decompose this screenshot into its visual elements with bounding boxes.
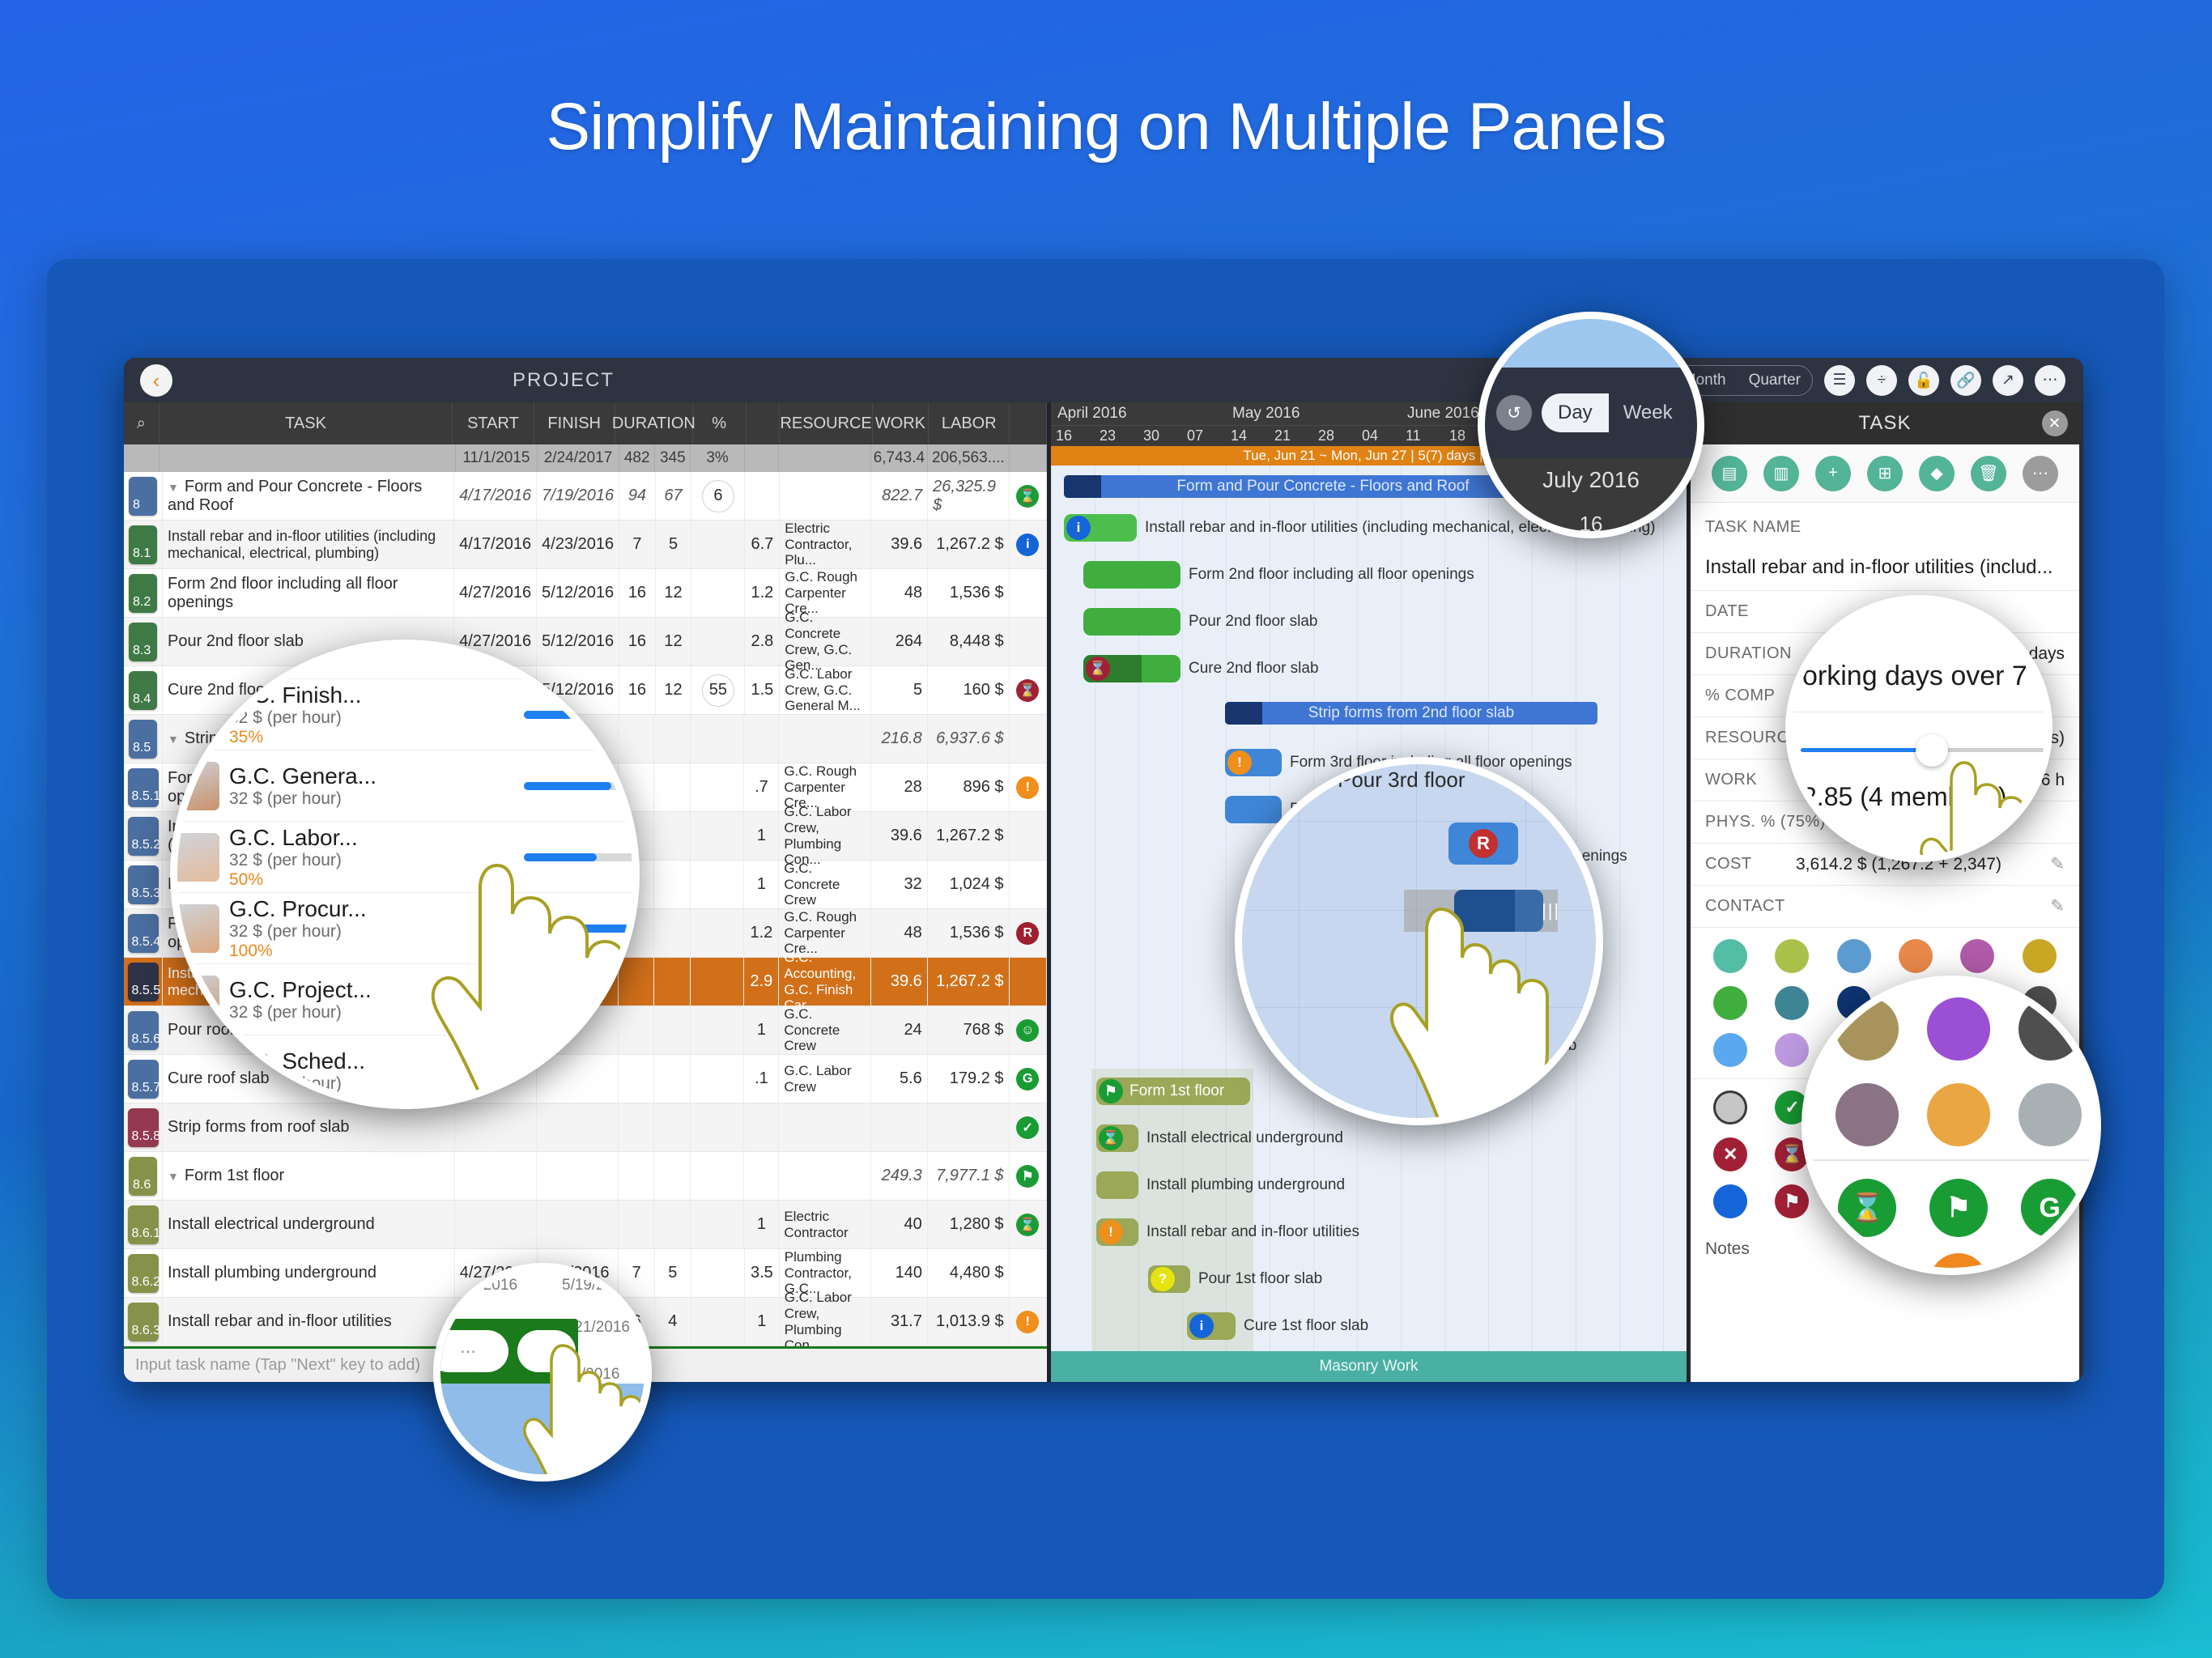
cell-duration-2[interactable]: [654, 1055, 691, 1103]
app-topbar: ‹ PROJECT ↺ Day Week Month Quarter ☰ ÷ 🔓…: [124, 358, 2083, 402]
resource-name: G.C. Finish...: [229, 682, 514, 708]
gantt-gridline: [1051, 466, 1052, 1380]
cell-duration-1[interactable]: [619, 1201, 655, 1248]
cell-flag[interactable]: [1010, 812, 1047, 860]
cell-percent[interactable]: [691, 763, 744, 811]
gantt-bar[interactable]: Install plumbing underground: [1096, 1171, 1138, 1199]
cell-percent[interactable]: [691, 1249, 745, 1297]
status-flag-icon[interactable]: ⌛: [1016, 485, 1039, 508]
cell-finish[interactable]: [537, 1152, 619, 1200]
more-icon[interactable]: ⋯: [2035, 365, 2065, 396]
magnifier-resource-list: G.C. Accou... 32 $ (per hour) 100% G.C. …: [170, 640, 640, 1109]
cell-resource[interactable]: [779, 1103, 870, 1151]
cell-finish[interactable]: [537, 1201, 619, 1248]
cell-resource-count: [744, 1152, 779, 1200]
page-title: PROJECT: [513, 369, 615, 392]
cell-resource[interactable]: [779, 715, 870, 763]
resource-list-item[interactable]: G.C. Project... 32 $ (per hour): [170, 964, 640, 1035]
cell-resource[interactable]: G.C. Labor Crew, G.C. General M...: [780, 666, 871, 714]
detail-row-contact[interactable]: CONTACT✎: [1691, 886, 2079, 928]
column-header-start[interactable]: START: [453, 402, 534, 444]
resource-popover[interactable]: G.C. Accou... 32 $ (per hour) 100% G.C. …: [170, 640, 640, 1107]
cell-duration-2[interactable]: [654, 1201, 691, 1248]
table-row[interactable]: 8.2Form 2nd floor including all floor op…: [124, 569, 1047, 618]
cell-resource[interactable]: G.C. Labor Crew: [779, 1055, 870, 1103]
cell-resource[interactable]: G.C. Labor Crew, Plumbing Con...: [780, 1298, 871, 1346]
resource-list-item[interactable]: G.C. Labor... 32 $ (per hour) 50%: [170, 822, 640, 893]
cell-work[interactable]: 32: [871, 861, 928, 908]
gantt-bar[interactable]: iInstall rebar and in-floor utilities (i…: [1064, 514, 1137, 542]
swatch-purple[interactable]: [1927, 997, 1990, 1061]
cell-flag[interactable]: [1010, 715, 1047, 763]
search-icon[interactable]: ⌕: [124, 402, 160, 444]
cell-duration-1[interactable]: 94: [619, 472, 656, 520]
cell-flag[interactable]: ⚑: [1010, 1152, 1047, 1200]
resource-list-item[interactable]: G.C. Procur... 32 $ (per hour) 100%: [170, 893, 640, 964]
cell-duration-2[interactable]: [654, 715, 691, 763]
status-flag-icon[interactable]: i: [1016, 534, 1039, 556]
cell-finish[interactable]: [537, 1103, 619, 1151]
cell-labor[interactable]: 7,977.1 $: [928, 1152, 1010, 1200]
row-id-badge: 8.5: [124, 715, 163, 763]
gantt-day-tick: 11: [1406, 427, 1421, 444]
cell-start[interactable]: [455, 1152, 537, 1200]
resource-slider[interactable]: [524, 925, 640, 933]
close-icon[interactable]: ✕: [2042, 410, 2068, 436]
cell-percent[interactable]: [691, 715, 744, 763]
cell-resource-count: [744, 715, 779, 763]
flag-red-icon[interactable]: ⚑: [1775, 1184, 1809, 1218]
status-flag-icon[interactable]: R: [1016, 922, 1039, 945]
cell-percent[interactable]: [691, 1103, 744, 1151]
cell-labor[interactable]: 1,013.9 $: [928, 1298, 1010, 1346]
row-id-badge: 8.1: [124, 521, 163, 568]
summary-labor: 206,563....: [928, 444, 1010, 472]
cell-percent[interactable]: 6: [691, 472, 745, 520]
cell-duration-1[interactable]: 7: [619, 521, 656, 568]
cell-work[interactable]: 39.6: [871, 958, 928, 1005]
cell-work[interactable]: 5: [871, 666, 928, 714]
cell-work[interactable]: 264: [871, 618, 928, 665]
row-id-badge: 8.5.1: [124, 763, 163, 811]
gantt-bar[interactable]: Form 2nd floor including all floor openi…: [1083, 561, 1180, 589]
cell-resource[interactable]: G.C. Concrete Crew: [779, 1006, 870, 1054]
status-flag-icon[interactable]: ⌛: [1016, 1214, 1039, 1236]
promo-title: Simplify Maintaining on Multiple Panels: [0, 89, 2212, 165]
column-header-flag: [1010, 402, 1047, 444]
swatch-orange[interactable]: [1927, 1083, 1990, 1146]
cell-resource-count: 3.5: [745, 1249, 780, 1297]
magnified-undo-icon[interactable]: ↺: [1496, 395, 1532, 431]
cell-resource[interactable]: G.C. Labor Crew, Plumbing Con...: [779, 812, 870, 860]
table-row[interactable]: 8▼Form and Pour Concrete - Floors and Ro…: [124, 472, 1047, 521]
cross-icon[interactable]: ✕: [1713, 1137, 1747, 1171]
cell-duration-1[interactable]: [619, 1103, 655, 1151]
gantt-bar[interactable]: !Install rebar and in-floor utilities: [1096, 1218, 1138, 1246]
resource-list-item[interactable]: G.C. Genera... 32 $ (per hour): [170, 750, 640, 822]
cell-duration-1[interactable]: 16: [619, 569, 656, 617]
resource-rate: 32 $ (per hour): [229, 851, 514, 870]
gantt-day-tick: 07: [1187, 427, 1203, 444]
summary-start: 11/1/2015: [456, 444, 538, 472]
avatar: [171, 691, 219, 739]
cell-labor[interactable]: 160 $: [928, 666, 1009, 714]
gantt-gridline: [1663, 466, 1664, 1380]
status-flag-icon[interactable]: G: [1016, 1068, 1039, 1090]
cell-task-name[interactable]: Install plumbing underground: [163, 1249, 455, 1297]
cell-flag[interactable]: [1010, 861, 1047, 908]
swatch-darkgrey[interactable]: [2018, 997, 2082, 1061]
cell-duration-2[interactable]: [654, 1103, 691, 1151]
row-id-badge: 8.6.3: [124, 1298, 163, 1346]
gantt-bar[interactable]: ?Pour 1st floor slab: [1148, 1265, 1190, 1293]
subtasks-icon[interactable]: ⊞: [1867, 456, 1903, 491]
color-swatch[interactable]: [1960, 939, 1994, 973]
cell-task-name[interactable]: Install electrical underground: [163, 1201, 455, 1248]
cell-work[interactable]: [871, 1103, 928, 1151]
cell-work[interactable]: 216.8: [871, 715, 928, 763]
cell-labor[interactable]: 6,937.6 $: [928, 715, 1010, 763]
cell-labor[interactable]: 1,267.2 $: [928, 812, 1010, 860]
resource-percent: 50%: [229, 870, 514, 890]
cell-work[interactable]: 28: [871, 763, 928, 811]
hourglass-icon[interactable]: ⌛: [1838, 1179, 1896, 1237]
cell-start[interactable]: 4/17/2016: [454, 472, 537, 520]
outline-icon[interactable]: ☰: [1824, 365, 1855, 396]
gantt-day-tick: 30: [1143, 427, 1159, 444]
cell-start[interactable]: 4/27/2016: [454, 569, 537, 617]
empty-circle-icon[interactable]: [1713, 1090, 1747, 1124]
cell-labor[interactable]: 8,448 $: [928, 618, 1009, 665]
row-id-badge: 8.5.3: [124, 861, 163, 908]
cell-labor[interactable]: 1,024 $: [928, 861, 1010, 908]
cell-flag[interactable]: ⌛: [1010, 666, 1047, 714]
cell-resource-count: 1.2: [745, 569, 780, 617]
indent-icon[interactable]: ▥: [1763, 456, 1799, 491]
cell-labor[interactable]: 768 $: [928, 1006, 1010, 1054]
cell-resource[interactable]: [779, 1152, 870, 1200]
cell-task-name[interactable]: Install rebar and in-floor utilities (in…: [163, 521, 454, 568]
row-id-badge: 8.2: [124, 569, 163, 617]
cell-labor[interactable]: 1,280 $: [928, 1201, 1010, 1248]
gantt-month-label: April 2016: [1057, 405, 1127, 423]
cell-resource-count: .7: [744, 763, 779, 811]
color-swatch[interactable]: [2023, 939, 2057, 973]
cell-flag[interactable]: i: [1010, 521, 1047, 568]
column-header-labor[interactable]: LABOR: [929, 402, 1010, 444]
row-id-badge: 8.5.4: [124, 909, 163, 957]
cell-duration-2[interactable]: [654, 812, 691, 860]
cell-labor[interactable]: 1,267.2 $: [928, 958, 1010, 1005]
cell-labor[interactable]: 179.2 $: [928, 1055, 1010, 1103]
flag-icon[interactable]: ⚑: [1929, 1179, 1988, 1237]
cell-finish[interactable]: 5/12/2016: [537, 569, 619, 617]
resource-slider[interactable]: [524, 853, 640, 861]
cell-percent[interactable]: [691, 569, 745, 617]
status-flag-icon[interactable]: !: [1016, 1311, 1039, 1333]
cell-percent[interactable]: [691, 1055, 744, 1103]
cell-work[interactable]: 48: [871, 909, 928, 957]
detail-label-task-name: TASK NAME: [1705, 518, 1802, 537]
cell-finish[interactable]: 4/23/2016: [537, 521, 619, 568]
cell-percent[interactable]: [691, 1201, 744, 1248]
cell-duration-2[interactable]: [654, 909, 691, 957]
cell-task-name[interactable]: ▼Form 1st floor: [163, 1152, 455, 1200]
color-swatch[interactable]: [1837, 939, 1871, 973]
cell-resource[interactable]: Electric Contractor, Plu...: [780, 521, 871, 568]
cell-task-name[interactable]: Strip forms from roof slab: [163, 1103, 455, 1151]
avatar: [171, 904, 219, 953]
resource-name: G.C. Genera...: [229, 763, 514, 789]
cell-flag[interactable]: [1010, 569, 1047, 617]
cell-finish[interactable]: 7/19/2016: [537, 472, 619, 520]
status-flag-icon[interactable]: ☺: [1016, 1019, 1039, 1042]
cell-resource[interactable]: G.C. Concrete Crew, G.C. Gen...: [780, 618, 871, 665]
magnifier-bulk-input: 5/11/2016 5/19/2016 /21/2016 /4/2016 ⋯: [433, 1263, 652, 1482]
resource-percent: 35%: [229, 728, 514, 747]
cell-duration-2[interactable]: [654, 958, 691, 1005]
column-header-task[interactable]: TASK: [160, 402, 453, 444]
cell-percent[interactable]: [691, 909, 744, 957]
resource-slider[interactable]: [524, 647, 640, 655]
cell-start[interactable]: 4/17/2016: [454, 521, 537, 568]
cell-percent[interactable]: [691, 958, 744, 1005]
row-id-badge: 8: [124, 472, 163, 520]
back-button[interactable]: ‹: [140, 364, 172, 397]
g-icon[interactable]: G: [2021, 1179, 2079, 1237]
table-row[interactable]: 8.1Install rebar and in-floor utilities …: [124, 521, 1047, 569]
avatar: [171, 1047, 219, 1095]
cell-resource[interactable]: Electric Contractor: [779, 1201, 870, 1248]
magnified-day-option[interactable]: Day: [1542, 393, 1609, 432]
cell-percent[interactable]: 55: [691, 666, 745, 714]
cell-flag[interactable]: R: [1010, 909, 1047, 957]
row-id-badge: 8.6.1: [124, 1201, 163, 1248]
cell-labor[interactable]: [928, 1103, 1010, 1151]
cell-flag[interactable]: !: [1010, 1298, 1047, 1346]
cell-duration-1[interactable]: [619, 1152, 655, 1200]
magnifier-color-picker: ⌛ ⚑ G ⌛ ⚑ A ⚑ R: [1802, 976, 2101, 1275]
note-icon[interactable]: ▤: [1712, 456, 1747, 491]
disclosure-caret-icon[interactable]: ▼: [168, 481, 179, 494]
cell-flag[interactable]: ⌛: [1010, 472, 1047, 520]
gantt-bar[interactable]: ⚑Form 1st floor: [1096, 1078, 1250, 1105]
magnified-date-3: /21/2016: [570, 1319, 630, 1337]
resource-rate: 32 $ (per hour): [229, 1074, 514, 1094]
detail-value-task-name[interactable]: Install rebar and in-floor utilities (in…: [1691, 545, 2079, 591]
cell-work[interactable]: 24: [871, 1006, 928, 1054]
cell-flag[interactable]: G: [1010, 1055, 1047, 1103]
resource-slider[interactable]: [524, 1067, 640, 1075]
lock-icon[interactable]: 🔓: [1908, 365, 1939, 396]
resource-slider[interactable]: [524, 782, 640, 790]
cell-labor[interactable]: 1,536 $: [928, 569, 1009, 617]
cell-work[interactable]: 31.7: [871, 1298, 928, 1346]
blue-icon[interactable]: [1713, 1184, 1747, 1218]
column-header-resource[interactable]: RESOURCE: [780, 402, 872, 444]
cell-work[interactable]: 39.6: [871, 812, 928, 860]
status-flag-icon[interactable]: ⚑: [1016, 1165, 1039, 1188]
cell-work[interactable]: 249.3: [871, 1152, 928, 1200]
cell-duration-2[interactable]: [654, 1006, 691, 1054]
edit-icon[interactable]: ✎: [2050, 854, 2065, 874]
avatar: [171, 762, 219, 810]
cell-work[interactable]: 48: [871, 569, 928, 617]
cell-duration-2[interactable]: 4: [655, 1298, 691, 1346]
cell-labor[interactable]: 4,480 $: [928, 1249, 1010, 1297]
cell-resource-count: 1.5: [745, 666, 780, 714]
status-flag-icon[interactable]: ✓: [1016, 1116, 1039, 1139]
add-task-icon[interactable]: +: [1815, 456, 1851, 491]
gantt-day-tick: 28: [1318, 427, 1334, 444]
cell-resource-count: 1: [744, 812, 779, 860]
cell-resource[interactable]: G.C. Concrete Crew: [779, 861, 870, 908]
cell-work[interactable]: 140: [871, 1249, 928, 1297]
table-row[interactable]: 8.6▼Form 1st floor249.37,977.1 $⚑: [124, 1152, 1047, 1201]
color-swatch[interactable]: [1775, 986, 1809, 1020]
magnified-resource-text: 2.85 (4 members): [1802, 782, 2007, 812]
swatch-grey[interactable]: [2018, 1083, 2082, 1146]
cell-work[interactable]: 822.7: [871, 472, 928, 520]
cell-flag[interactable]: [1010, 1249, 1047, 1297]
cell-work[interactable]: 5.6: [871, 1055, 928, 1103]
color-swatch[interactable]: [1713, 1033, 1747, 1067]
cell-resource[interactable]: [780, 472, 871, 520]
resource-rate: 32 $ (per hour): [219, 645, 514, 661]
gantt-day-tick: 16: [1056, 427, 1072, 444]
cell-duration-2[interactable]: [654, 861, 691, 908]
percent-slider-knob[interactable]: [1916, 734, 1948, 767]
cell-task-name[interactable]: Install rebar and in-floor utilities: [163, 1298, 455, 1346]
cell-duration-2[interactable]: 5: [655, 1249, 691, 1297]
summary-duration1: 482: [619, 444, 655, 472]
timescale-quarter[interactable]: Quarter: [1738, 366, 1812, 395]
column-header-resource-count: [747, 402, 781, 444]
resource-rate: 32 $ (per hour): [229, 1003, 514, 1022]
cell-percent[interactable]: [691, 521, 745, 568]
summary-duration2: 345: [655, 444, 691, 472]
column-header-finish[interactable]: FINISH: [534, 402, 615, 444]
cell-work[interactable]: 39.6: [871, 521, 928, 568]
table-header-row: ⌕ TASK START FINISH DURATION % RESOURCE …: [124, 402, 1047, 444]
cell-duration-2[interactable]: 12: [656, 618, 692, 665]
cell-resource[interactable]: G.C. Accounting, G.C. Finish Car...: [779, 958, 870, 1005]
link-icon[interactable]: 🔗: [1950, 365, 1981, 396]
table-row[interactable]: 8.5.8Strip forms from roof slab✓: [124, 1103, 1047, 1152]
color-swatch[interactable]: [1713, 986, 1747, 1020]
status-flag-icon[interactable]: ⌛: [1016, 679, 1039, 702]
resource-percent: 100%: [229, 942, 514, 961]
magnified-gantt-bar[interactable]: R: [1448, 823, 1518, 865]
cell-percent[interactable]: [691, 1298, 745, 1346]
gantt-footer-bar[interactable]: Masonry Work: [1051, 1351, 1687, 1382]
cell-labor[interactable]: 1,536 $: [928, 909, 1010, 957]
more-icon[interactable]: ⋯: [2023, 456, 2058, 491]
row-id-badge: 8.5.6: [124, 1006, 163, 1054]
cell-labor[interactable]: 1,267.2 $: [928, 521, 1009, 568]
cell-duration-2[interactable]: 5: [656, 521, 692, 568]
cell-task-name[interactable]: Form 2nd floor including all floor openi…: [163, 569, 454, 617]
swatch-mauve[interactable]: [1836, 1083, 1899, 1146]
cell-resource-count: 6.7: [745, 521, 780, 568]
gantt-bar[interactable]: Pour 2nd floor slab: [1083, 608, 1180, 636]
resource-list-item[interactable]: G.C. Sched... 32 $ (per hour): [170, 1035, 640, 1107]
column-header-work[interactable]: WORK: [873, 402, 929, 444]
cell-flag[interactable]: [1010, 618, 1047, 665]
cell-percent[interactable]: [691, 812, 744, 860]
split-icon[interactable]: ÷: [1866, 365, 1897, 396]
cell-percent[interactable]: [691, 861, 744, 908]
avatar: [171, 833, 219, 882]
drag-handle[interactable]: |||: [1542, 900, 1560, 921]
resource-list-item[interactable]: G.C. Finish... 32 $ (per hour) 35%: [170, 679, 640, 750]
column-header-duration[interactable]: DURATION: [615, 402, 693, 444]
cell-percent[interactable]: [691, 1152, 744, 1200]
color-swatch[interactable]: [1899, 939, 1933, 973]
cell-flag[interactable]: ⌛: [1010, 1201, 1047, 1248]
summary-work: 6,743.4: [871, 444, 928, 472]
cell-percent[interactable]: [691, 618, 745, 665]
cell-work[interactable]: 40: [871, 1201, 928, 1248]
column-header-percent[interactable]: %: [693, 402, 747, 444]
flag-orange-icon[interactable]: ⚑: [1929, 1253, 1988, 1275]
color-swatch[interactable]: [1775, 939, 1809, 973]
cell-resource-count: [744, 1103, 779, 1151]
resource-slider[interactable]: [524, 996, 640, 1004]
cell-labor[interactable]: 896 $: [928, 763, 1010, 811]
table-row[interactable]: 8.6.1Install electrical underground1Elec…: [124, 1201, 1047, 1249]
gantt-bar[interactable]: ⌛Cure 2nd floor slab: [1083, 655, 1180, 682]
gantt-bar[interactable]: Strip forms from 2nd floor slab: [1225, 702, 1597, 725]
magnifier-timescale: ↺ Day Week July 2016 09 16 23: [1478, 312, 1704, 538]
color-swatch[interactable]: [1713, 939, 1747, 973]
summary-finish: 2/24/2017: [538, 444, 619, 472]
r-icon: R: [1469, 829, 1498, 858]
cell-duration-2[interactable]: 12: [656, 666, 692, 714]
cell-flag[interactable]: [1010, 958, 1047, 1005]
share-icon[interactable]: ↗: [1993, 365, 2023, 396]
cell-task-name[interactable]: ▼Form and Pour Concrete - Floors and Roo…: [163, 472, 454, 520]
cell-duration-2[interactable]: 12: [656, 569, 692, 617]
magnified-drag-bar[interactable]: [1454, 890, 1515, 932]
resource-name: G.C. Project...: [229, 977, 514, 1003]
cell-duration-2[interactable]: 67: [656, 472, 692, 520]
color-swatch[interactable]: [1775, 1033, 1809, 1067]
status-flag-icon[interactable]: !: [1016, 776, 1039, 799]
cell-labor[interactable]: 26,325.9 $: [928, 472, 1009, 520]
cell-start[interactable]: [455, 1201, 537, 1248]
gantt-bar[interactable]: iCure 1st floor slab: [1187, 1312, 1236, 1340]
milestone-icon[interactable]: ◆: [1919, 456, 1955, 491]
summary-percent: 3%: [691, 444, 744, 472]
disclosure-caret-icon[interactable]: ▼: [168, 1170, 179, 1183]
cell-duration-2[interactable]: [654, 763, 691, 811]
swatch-tan[interactable]: [1836, 997, 1899, 1061]
cell-resource-count: .1: [744, 1055, 779, 1103]
cell-duration-2[interactable]: [654, 1152, 691, 1200]
edit-icon[interactable]: ✎: [2050, 896, 2065, 916]
cell-flag[interactable]: ✓: [1010, 1103, 1047, 1151]
cell-start[interactable]: [455, 1103, 537, 1151]
cell-flag[interactable]: ☺: [1010, 1006, 1047, 1054]
gantt-day-tick: 23: [1100, 427, 1116, 444]
magnified-week-option[interactable]: Week: [1609, 393, 1687, 432]
gantt-bar[interactable]: ⌛Install electrical underground: [1096, 1124, 1138, 1152]
cell-percent[interactable]: [691, 1006, 744, 1054]
cell-flag[interactable]: !: [1010, 763, 1047, 811]
trash-icon[interactable]: 🗑: [1971, 456, 2006, 491]
resource-slider[interactable]: [524, 711, 640, 719]
